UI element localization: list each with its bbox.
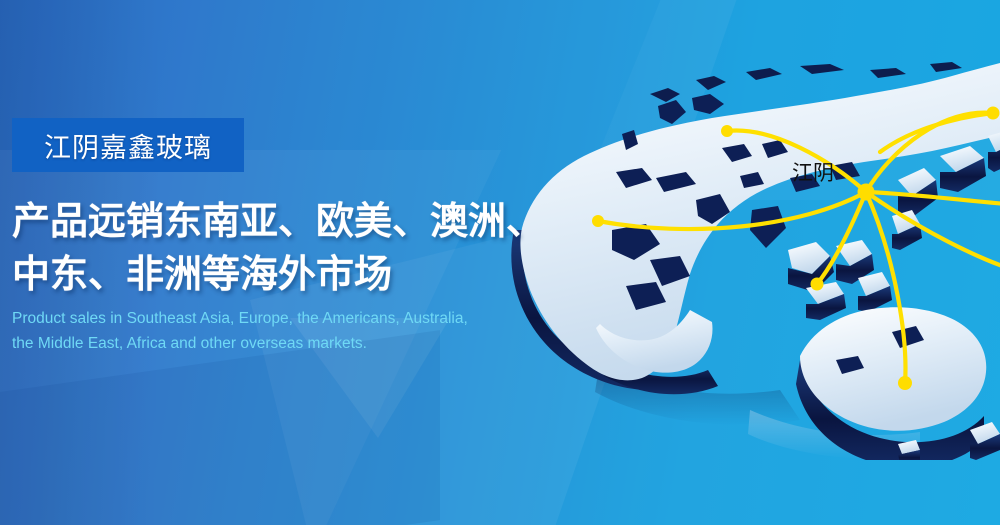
europe-russia-node (721, 125, 733, 137)
west-africa-node (592, 215, 604, 227)
southeast-asia-node (811, 278, 824, 291)
australia-node (898, 376, 912, 390)
hub-label-jiangyin: 江阴 (792, 162, 834, 185)
subtitle-line-2: the Middle East, Africa and other overse… (12, 331, 572, 356)
hub-node-jiangyin (858, 184, 875, 201)
company-name-badge: 江阴嘉鑫玻璃 (12, 118, 244, 172)
headline-line-1: 产品远销东南亚、欧美、澳洲、 (12, 196, 572, 249)
company-name-label: 江阴嘉鑫玻璃 (44, 126, 212, 165)
subtitle-line-1: Product sales in Southeast Asia, Europe,… (12, 306, 572, 331)
subtitle: Product sales in Southeast Asia, Europe,… (12, 306, 572, 356)
promo-banner: 江阴 江阴嘉鑫玻璃 产品远销东南亚、欧美、澳洲、 中东、非洲等海外市场 Prod… (0, 0, 1000, 525)
northeast-node (987, 107, 1000, 120)
headline: 产品远销东南亚、欧美、澳洲、 中东、非洲等海外市场 (12, 196, 572, 302)
headline-line-2: 中东、非洲等海外市场 (12, 249, 572, 302)
route-lower-right-arc (866, 192, 1000, 272)
banner-text-block: 江阴嘉鑫玻璃 产品远销东南亚、欧美、澳洲、 中东、非洲等海外市场 Product… (0, 0, 580, 525)
